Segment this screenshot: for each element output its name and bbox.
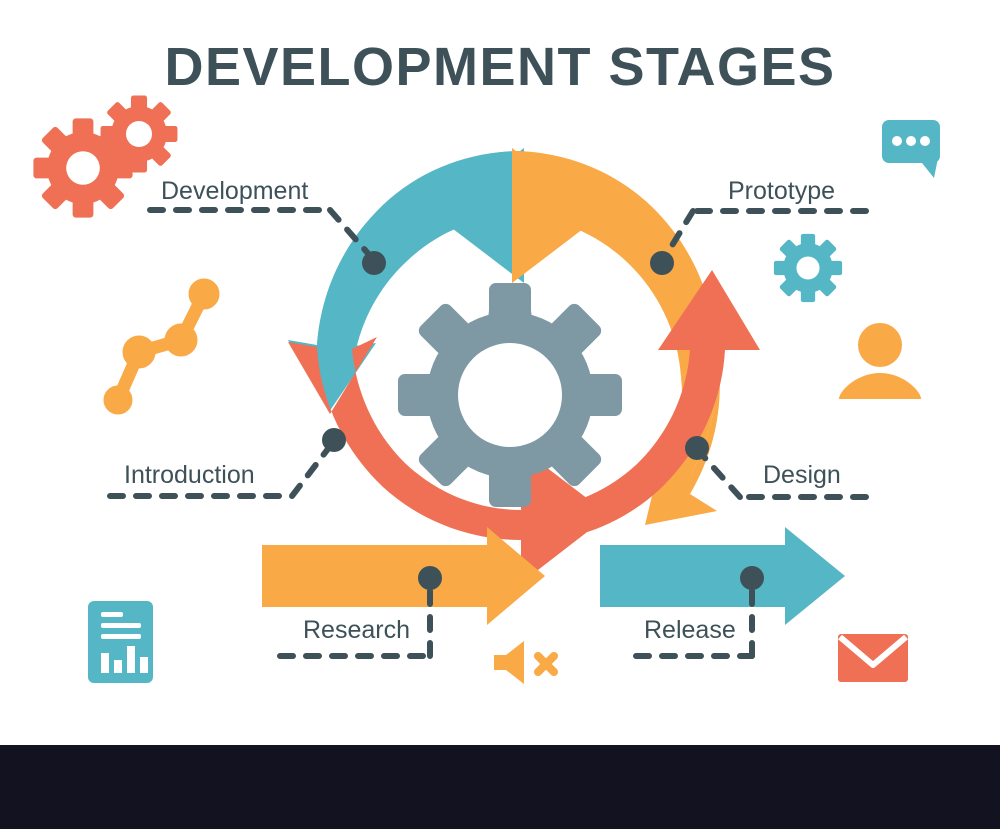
line-chart-icon [104,279,219,414]
user-icon [839,323,921,399]
callout-line-design-bend [696,448,740,497]
dot-prototype [650,251,674,275]
callout-dots [322,251,764,590]
speaker-mute-icon [494,641,554,684]
arc-prototype[interactable] [512,148,720,525]
stage-label-release[interactable]: Release [644,616,736,645]
stage-label-research[interactable]: Research [303,616,410,645]
watermark-bar: VectorStock® VectorStock.com/47097805 [0,745,1000,829]
infographic-canvas: DEVELOPMENT STAGES [0,0,1000,745]
dot-development [362,251,386,275]
arc-development[interactable] [284,148,525,412]
callout-line-prototype-bend [665,211,693,257]
envelope-icon [838,634,908,682]
diagram-artwork [0,0,1000,745]
dot-design [685,436,709,460]
stage-label-design[interactable]: Design [763,461,841,490]
gears-icon [13,80,194,239]
center-gear-icon [352,237,669,554]
dot-introduction [322,428,346,452]
arrow-research[interactable] [262,527,545,625]
page-title: DEVELOPMENT STAGES [0,36,1000,98]
document-chart-icon [88,601,153,683]
infographic-stage: DEVELOPMENT STAGES [0,0,1000,829]
stage-label-introduction[interactable]: Introduction [124,461,255,490]
dot-release [740,566,764,590]
callout-line-introduction-bend [292,441,334,496]
chat-bubble-icon [882,120,940,178]
gear-icon [760,220,856,316]
stage-label-prototype[interactable]: Prototype [728,177,835,206]
dot-research [418,566,442,590]
callout-line-development-bend [330,210,372,258]
stage-label-development[interactable]: Development [161,177,308,206]
callout-lines [110,210,866,656]
arc-introduction-design[interactable] [288,270,760,583]
arrow-release[interactable] [600,527,845,625]
